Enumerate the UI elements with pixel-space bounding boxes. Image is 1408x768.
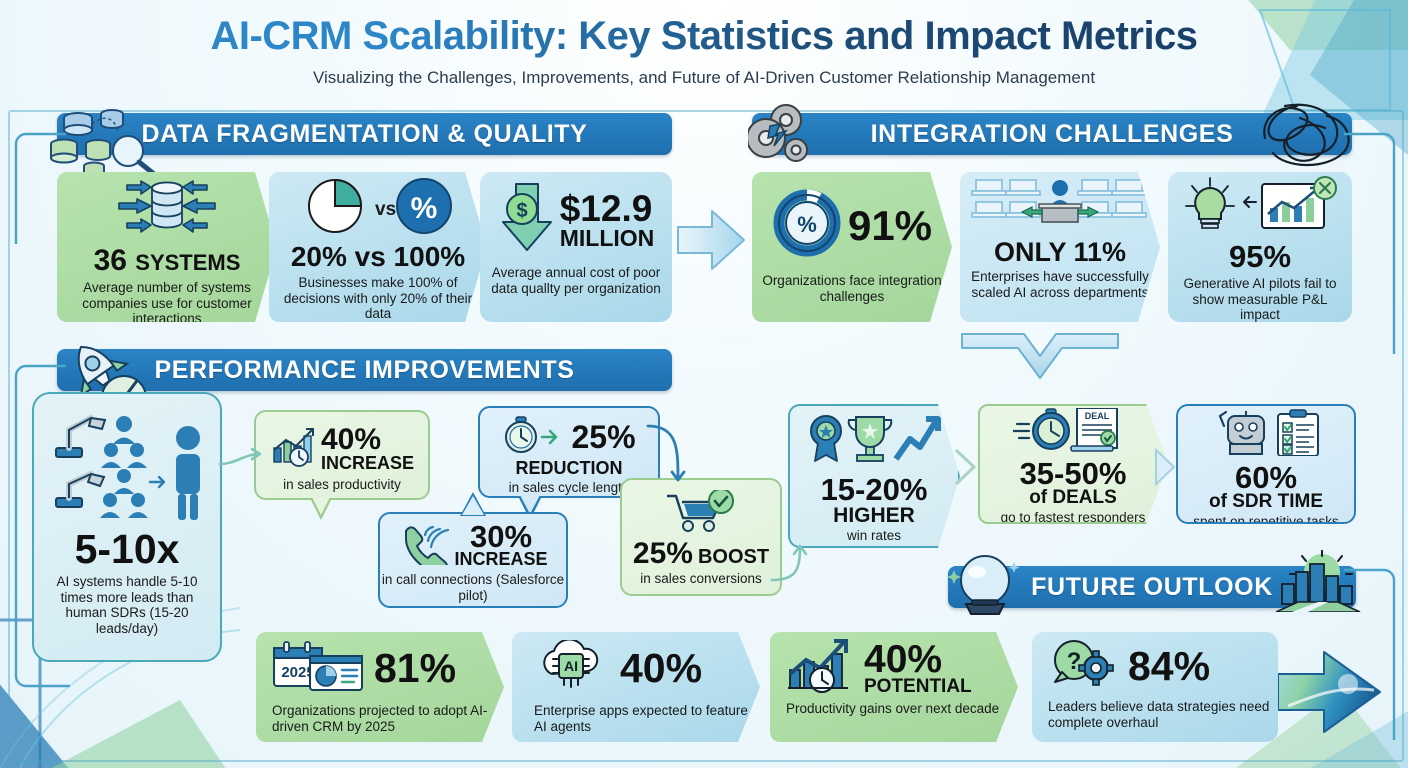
stat-value: 95% xyxy=(1229,241,1291,272)
stat-value: 35-50% xyxy=(1020,458,1127,489)
stat-value: 40% xyxy=(321,425,381,455)
stat-card-15-20-higher[interactable]: 15-20% HIGHER win rates xyxy=(788,404,960,548)
stat-description: Average annual cost of poor data quallty… xyxy=(488,265,664,296)
stat-description: win rates xyxy=(792,528,956,544)
stat-description: Organizations face integration challenge… xyxy=(762,273,942,304)
stat-card-36-systems[interactable]: 36 SYSTEMS Average number of systems com… xyxy=(57,172,277,322)
growth-chart-clock-icon xyxy=(786,638,854,699)
svg-text:vs: vs xyxy=(375,199,396,220)
stat-suffix: INCREASE xyxy=(321,453,414,474)
bubble-tail-40-increase-fill xyxy=(312,497,330,515)
section-header-integration-challenges[interactable]: INTEGRATION CHALLENGES xyxy=(752,113,1352,155)
stat-value: $12.9 xyxy=(560,190,653,227)
stat-value: 84% xyxy=(1128,646,1210,687)
page-subtitle: Visualizing the Challenges, Improvements… xyxy=(0,68,1408,88)
stat-value: 40% xyxy=(864,640,942,679)
stat-suffix: MILLION xyxy=(560,225,655,252)
lightbulb-chart-x-icon xyxy=(1180,174,1340,241)
section-header-label: FUTURE OUTLOOK xyxy=(1031,573,1273,602)
section-header-label: DATA FRAGMENTATION & QUALITY xyxy=(142,120,588,149)
stat-card-5-10x[interactable]: 5-10x AI systems handle 5-10 times more … xyxy=(32,392,222,662)
svg-text:%: % xyxy=(411,192,438,225)
svg-text:AI: AI xyxy=(564,658,578,674)
stat-description: in sales productivity xyxy=(258,477,426,493)
stat-value: 5-10x xyxy=(75,529,180,570)
stat-suffix: BOOST xyxy=(698,546,769,569)
database-arrows-icon xyxy=(107,177,227,244)
robot-checklist-icon xyxy=(1206,408,1326,461)
phone-signal-icon xyxy=(398,521,450,570)
section-header-label: INTEGRATION CHALLENGES xyxy=(871,120,1234,149)
stat-description: in sales conversions xyxy=(622,571,780,587)
stat-description: Organizations projected to adopt AI-driv… xyxy=(272,703,494,734)
stat-description: Enterprises have successfully scaled AI … xyxy=(967,269,1153,300)
robot-arms-people-icon xyxy=(42,400,212,527)
stat-value: 36 SYSTEMS xyxy=(94,246,241,276)
stat-suffix: REDUCTION xyxy=(516,458,623,479)
section-header-performance-improvements[interactable]: PERFORMANCE IMPROVEMENTS xyxy=(57,349,672,391)
stat-suffix: of DEALS xyxy=(1029,487,1117,509)
section-header-future-outlook[interactable]: FUTURE OUTLOOK xyxy=(948,566,1356,608)
ai-cloud-chip-icon: AI xyxy=(534,640,608,697)
question-gear-icon: ? xyxy=(1048,638,1118,695)
dollar-down-arrow-icon: $ xyxy=(498,182,556,259)
stat-card-84-percent[interactable]: ? 84% Leaders believe data strategies n xyxy=(1032,632,1278,742)
stat-value: 60% xyxy=(1235,462,1297,493)
calendar-dashboard-icon: 2025 xyxy=(272,640,364,697)
stat-card-91-percent[interactable]: % 91% Organizations face integration cha… xyxy=(752,172,952,322)
shopping-cart-check-icon xyxy=(663,490,739,539)
stat-card-12-9-million[interactable]: $ $12.9 MILLION Average annual cost of p… xyxy=(480,172,672,322)
stat-description: Enterprise apps expected to feature AI a… xyxy=(534,703,752,734)
section-header-data-fragmentation[interactable]: DATA FRAGMENTATION & QUALITY xyxy=(57,113,672,155)
svg-text:$: $ xyxy=(516,200,527,222)
stat-description: spent on repetitive tasks xyxy=(1178,514,1354,524)
stat-value: ONLY 11% xyxy=(994,239,1126,266)
donut-percent-icon: % xyxy=(772,188,842,263)
stat-description: Productivity gains over next decade xyxy=(786,701,1008,717)
infographic-canvas: AI-CRM Scalability: Key Statistics and I… xyxy=(0,0,1408,768)
stopwatch-arrow-icon xyxy=(502,415,568,460)
stat-card-95-percent[interactable]: 95% Generative AI pilots fail to show me… xyxy=(1168,172,1352,322)
stopwatch-deal-icon: DEAL xyxy=(1013,408,1133,457)
stat-card-40-potential[interactable]: 40% POTENTIAL Productivity gains over ne… xyxy=(770,632,1018,742)
stat-description: AI systems handle 5-10 times more leads … xyxy=(39,574,215,637)
bar-chart-clock-icon xyxy=(270,426,316,473)
stat-card-40-increase[interactable]: 40% INCREASE in sales productivity xyxy=(254,410,430,500)
office-desks-icon xyxy=(970,176,1150,237)
stat-card-only-11-percent[interactable]: ONLY 11% Enterprises have successfully s… xyxy=(960,172,1160,322)
stat-card-30-increase[interactable]: 30% INCREASE in call connections (Salesf… xyxy=(378,512,568,608)
stat-suffix: POTENTIAL xyxy=(864,676,972,698)
trophy-ribbon-arrow-icon xyxy=(804,411,944,472)
stat-suffix: of SDR TIME xyxy=(1209,491,1323,513)
stat-description: go to fastest responders xyxy=(983,510,1163,524)
bubble-tail-30-increase-fill xyxy=(462,496,484,515)
stat-value: 25% xyxy=(571,421,635,453)
stat-description: in call connections (Salesforce pilot) xyxy=(381,572,565,603)
stat-card-81-percent[interactable]: 2025 81% Organizations pr xyxy=(256,632,504,742)
stat-value: 25% xyxy=(633,539,693,569)
section-header-label: PERFORMANCE IMPROVEMENTS xyxy=(155,356,575,385)
stat-suffix: INCREASE xyxy=(454,549,547,570)
stat-value: 30% xyxy=(470,521,532,552)
stat-card-35-50-deals[interactable]: DEAL 35-50% of DEALS go to fastest respo… xyxy=(978,404,1168,524)
svg-text:DEAL: DEAL xyxy=(1085,411,1110,421)
stat-value: 91% xyxy=(848,205,932,247)
stat-card-20-vs-100[interactable]: vs % 20% vs 100% Businesses make 100% of… xyxy=(269,172,487,322)
svg-text:%: % xyxy=(797,212,817,237)
page-title: AI-CRM Scalability: Key Statistics and I… xyxy=(0,14,1408,59)
stat-card-60-sdr-time[interactable]: 60% of SDR TIME spent on repetitive task… xyxy=(1176,404,1356,524)
stat-value: 81% xyxy=(374,648,456,689)
stat-description: Generative AI pilots fail to show measur… xyxy=(1175,276,1345,322)
stat-value: 15-20% xyxy=(821,474,928,505)
stat-value: 20% vs 100% xyxy=(291,243,465,271)
stat-card-25-boost[interactable]: 25% BOOST in sales conversions xyxy=(620,478,782,596)
stat-value: 40% xyxy=(620,648,702,689)
stat-description: Average number of systems companies use … xyxy=(67,280,267,322)
stat-card-40-percent-apps[interactable]: AI 40% Enterprise apps expected to featu… xyxy=(512,632,760,742)
stat-description: Leaders believe data strategies need com… xyxy=(1048,699,1270,730)
stat-suffix: HIGHER xyxy=(833,504,915,528)
pie-vs-percent-icon: vs % xyxy=(303,175,453,242)
stat-description: Businesses make 100% of decisions with o… xyxy=(280,275,476,322)
